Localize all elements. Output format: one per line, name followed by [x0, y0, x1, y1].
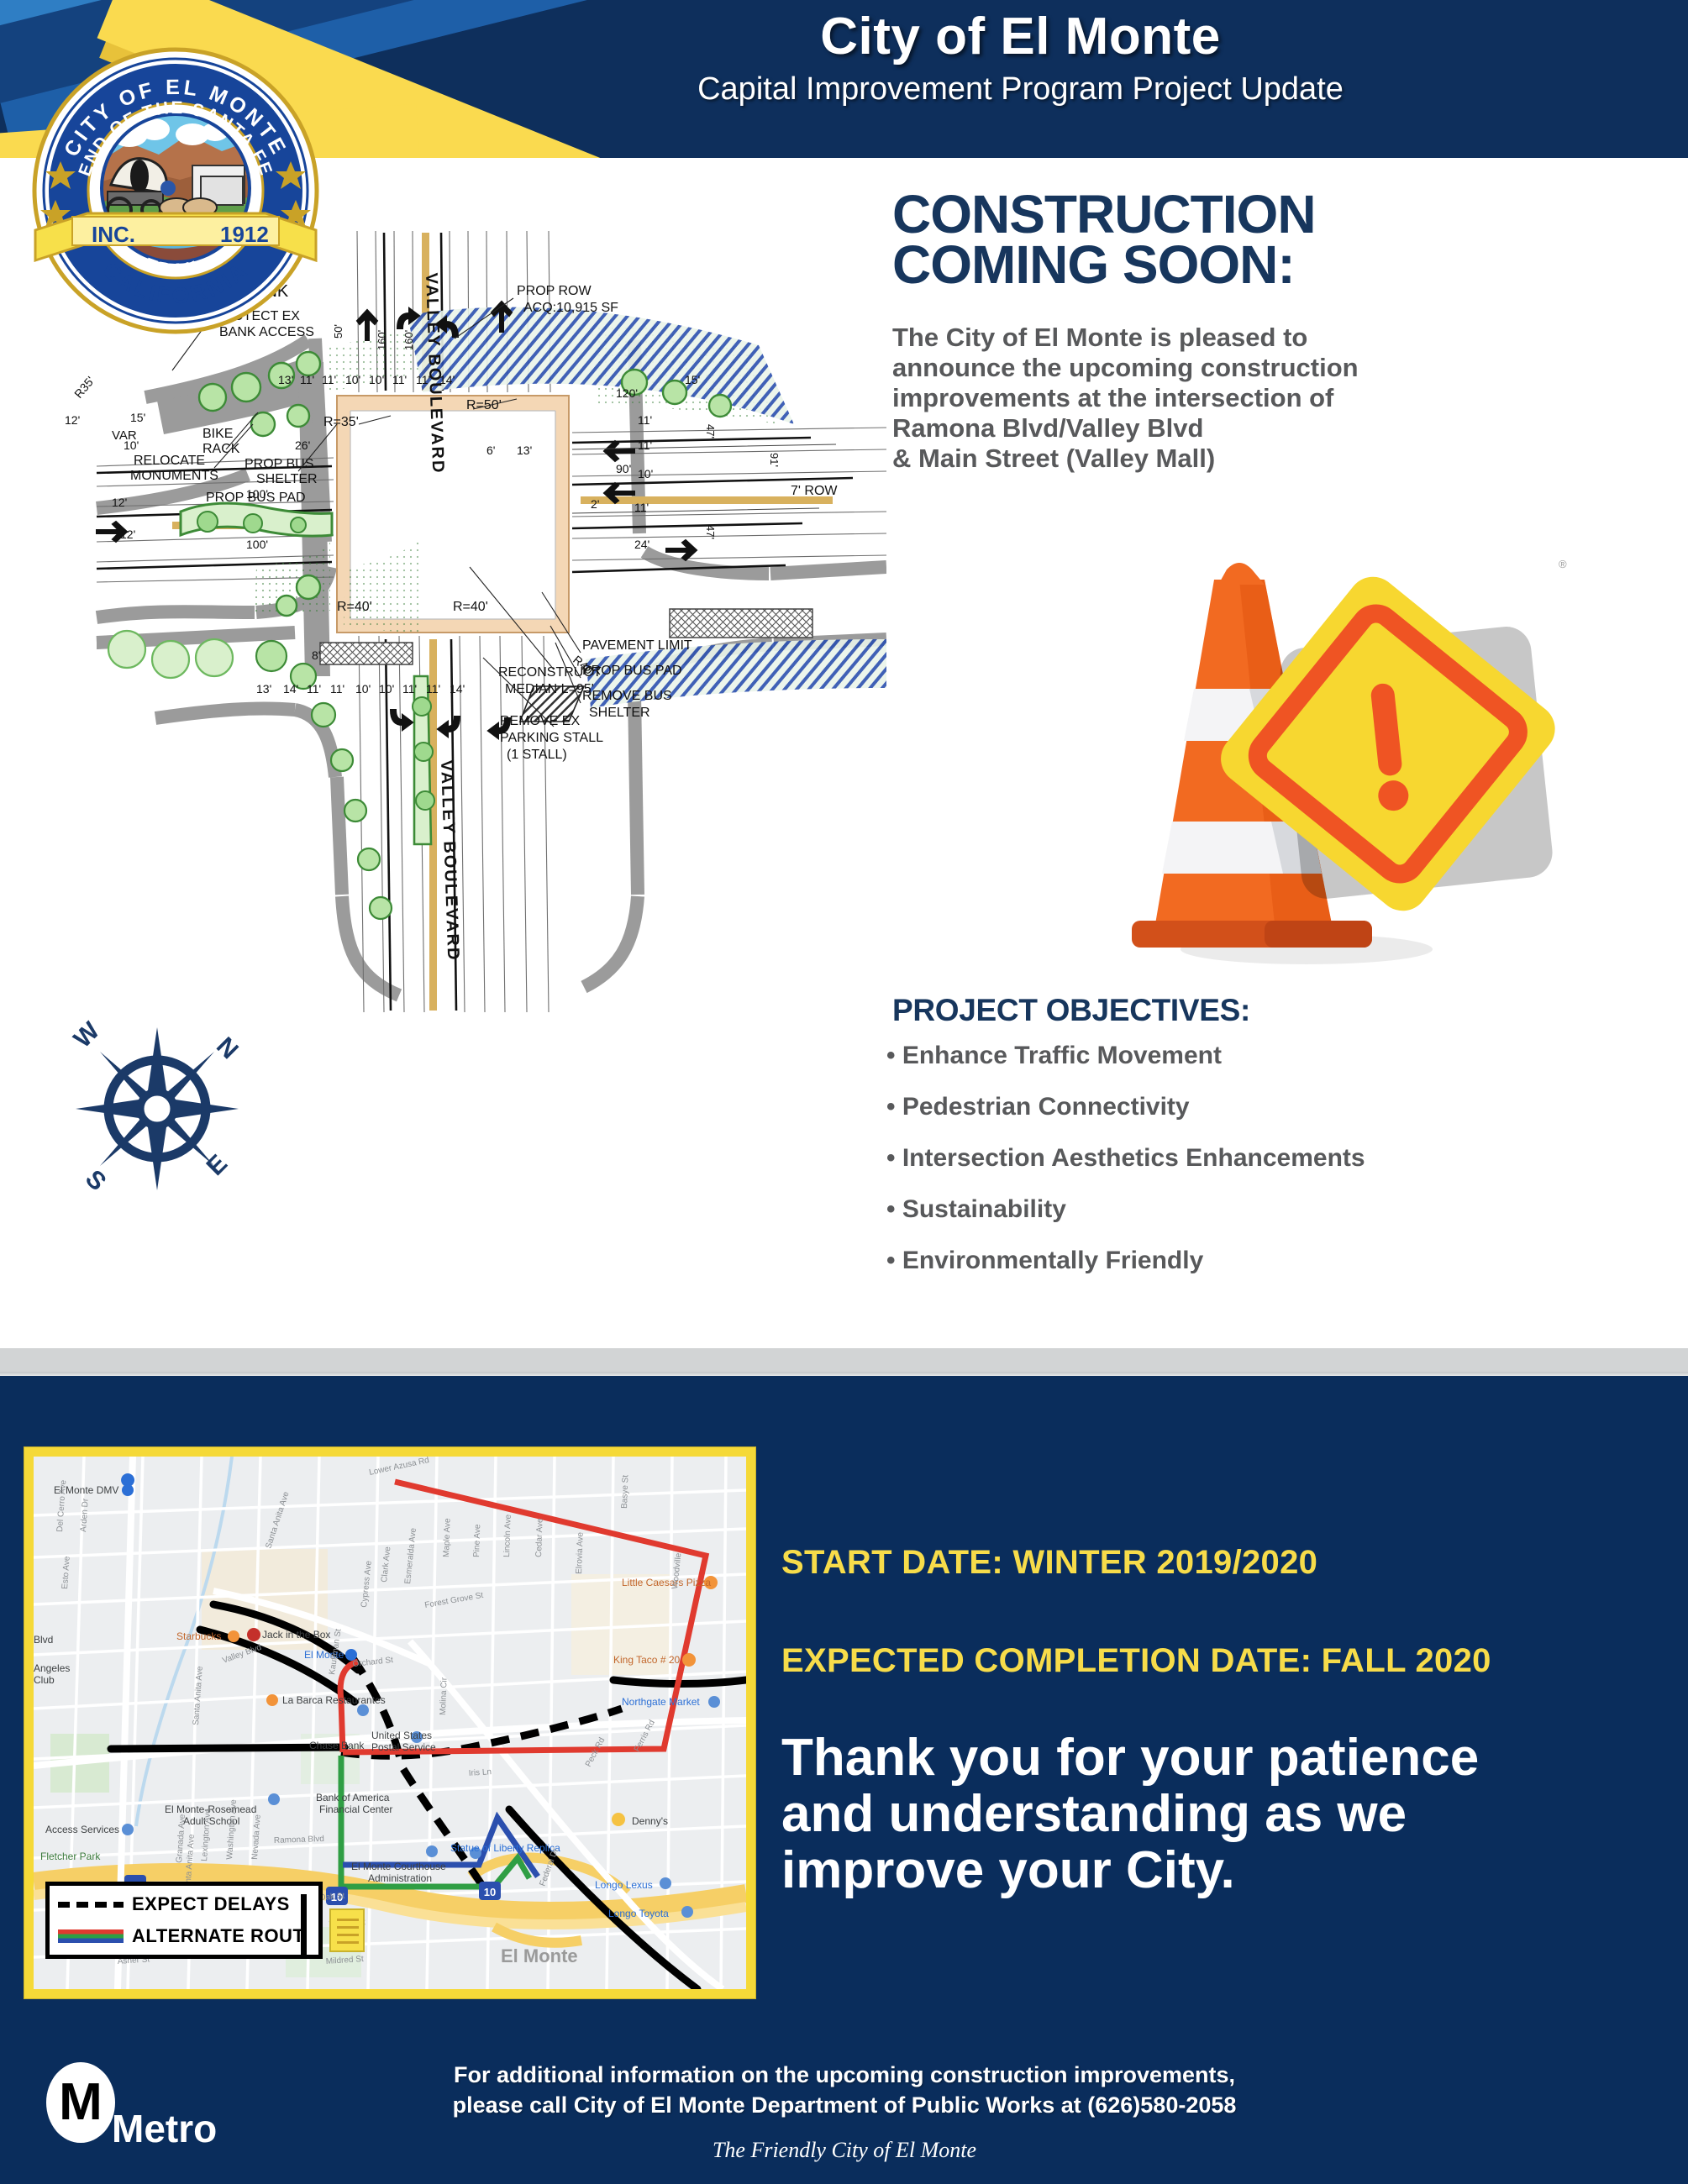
plan-dim-6r: 6'	[486, 444, 495, 457]
plan-dim-10t2: 10'	[369, 373, 384, 386]
plan-dim-11d: 11'	[307, 682, 321, 696]
plan-dim-160b: 160'	[402, 330, 415, 350]
plan-radius-r35: R=35'	[323, 415, 359, 429]
header-text-group: City of El Monte Capital Improvement Pro…	[353, 7, 1688, 108]
plan-label-median-l95: MEDIAN L=95'	[505, 682, 594, 696]
page-title: City of El Monte	[353, 7, 1688, 66]
map-poi-label: Postal Service	[371, 1741, 436, 1753]
plan-dim-14a: 14'	[283, 682, 298, 696]
map-city-label: El Monte	[501, 1945, 578, 1966]
lead-line-2: announce the upcoming construction	[892, 353, 1531, 383]
objective-item: Enhance Traffic Movement	[886, 1042, 1643, 1069]
map-poi-label: Blvd	[34, 1634, 53, 1646]
plan-dim-11c: 11'	[634, 501, 649, 514]
map-street-label: Maple Ave	[442, 1518, 453, 1557]
headline-block: CONSTRUCTION COMING SOON:	[892, 189, 1531, 290]
plan-dim-11a: 11'	[638, 413, 652, 427]
plan-dim-10: 10'	[124, 438, 139, 452]
plan-label-pavement-limit: PAVEMENT LIMIT	[582, 638, 692, 653]
legend-row-alternate: ALTERNATE ROUT	[58, 1920, 318, 1952]
map-street-label: Pine Ave	[472, 1524, 482, 1557]
legend-divider-bar	[301, 1894, 307, 1955]
map-poi-label: La Barca Restaurantes	[282, 1694, 386, 1706]
map-street-label: Iris Ln	[468, 1767, 492, 1778]
plan-dim-90: 90'	[616, 462, 631, 475]
plan-dim-11t3: 11'	[392, 373, 407, 386]
lead-line-3: improvements at the intersection of	[892, 383, 1531, 413]
map-street-label: Oak St	[318, 1892, 344, 1903]
detour-map[interactable]: 10 10 10	[34, 1457, 746, 1989]
plan-dim-100b: 100'	[246, 538, 268, 551]
plan-dim-2: 2'	[591, 497, 599, 511]
plan-dim-var-12: 12'	[65, 413, 80, 427]
headline-line-2: COMING SOON:	[892, 239, 1531, 290]
thanks-line-1: Thank you for your patience	[781, 1730, 1630, 1787]
objective-item: Sustainability	[886, 1195, 1643, 1223]
lead-line-1: The City of El Monte is pleased to	[892, 323, 1531, 353]
completion-date-text: EXPECTED COMPLETION DATE: FALL 2020	[781, 1642, 1664, 1680]
plan-dim-50: 50'	[332, 324, 344, 339]
map-poi-label: Bank of America	[316, 1792, 390, 1803]
map-poi-label: Little Caesars Pizza	[622, 1577, 711, 1588]
dashed-line-icon	[58, 1902, 124, 1908]
plan-label-prop-bus: PROP BUS	[245, 457, 313, 471]
plan-label-remove-ex: REMOVE EX	[500, 714, 580, 728]
plan-dim-14t: 14'	[439, 373, 455, 386]
plan-dim-91: 91'	[768, 453, 781, 467]
map-poi-label: Club	[34, 1674, 55, 1686]
registered-mark: ®	[1559, 558, 1567, 570]
objective-item: Environmentally Friendly	[886, 1247, 1643, 1274]
plan-dim-14b: 14'	[450, 682, 465, 696]
map-legend: EXPECT DELAYS ALTERNATE ROUT	[45, 1882, 323, 1959]
plan-dim-10t1: 10'	[345, 373, 360, 386]
plan-dim-left-12: 12'	[112, 496, 127, 509]
plan-label-prop-bus-pad-2: PROP BUS PAD	[582, 664, 682, 678]
plan-dim-10d: 10'	[379, 682, 394, 696]
plan-dim-10b: 10'	[638, 467, 653, 480]
map-poi-label: Northgate Market	[622, 1696, 700, 1708]
map-poi-label: Chase Bank	[309, 1740, 365, 1751]
thanks-line-3: improve your City.	[781, 1843, 1630, 1899]
page-subtitle: Capital Improvement Program Project Upda…	[353, 71, 1688, 108]
plan-dim-13t: 13'	[278, 373, 293, 386]
lead-line-5: & Main Street (Valley Mall)	[892, 444, 1531, 474]
plan-dim-26: 26'	[295, 438, 310, 452]
plan-radius-r40a: R=40'	[337, 600, 372, 614]
plan-dim-160a: 160'	[376, 330, 388, 350]
contact-line-2: please call City of El Monte Department …	[277, 2090, 1412, 2120]
map-poi-label: Angeles	[34, 1662, 70, 1674]
plan-label-parking-stall: PARKING STALL	[500, 731, 603, 745]
compass-label-s: S	[80, 1165, 111, 1196]
thank-you-message: Thank you for your patience and understa…	[781, 1730, 1630, 1899]
objectives-heading: PROJECT OBJECTIVES:	[892, 993, 1250, 1028]
plan-dim-11t2: 11'	[322, 373, 336, 386]
metro-logo-letter: M	[59, 2076, 103, 2129]
plan-dim-11t4: 11'	[416, 373, 430, 386]
objective-item: Pedestrian Connectivity	[886, 1093, 1643, 1121]
plan-dim-10c: 10'	[355, 682, 371, 696]
plan-label-remove-bus: REMOVE BUS	[582, 689, 672, 703]
legend-row-delays: EXPECT DELAYS	[58, 1888, 318, 1920]
plan-dim-11e: 11'	[330, 682, 344, 696]
plan-radius-r40b: R=40'	[453, 600, 488, 614]
legend-label-alternate-route: ALTERNATE ROUT	[132, 1925, 304, 1947]
map-poi-label: Denny's	[632, 1815, 668, 1827]
map-poi-label: Access Services	[45, 1824, 119, 1835]
plan-dim-24: 24'	[634, 538, 649, 551]
plan-label-acq: ACQ:10,915 SF	[523, 301, 618, 315]
lead-line-4: Ramona Blvd/Valley Blvd	[892, 413, 1531, 444]
map-poi-label: Longo Toyota	[608, 1908, 669, 1919]
contact-info: For additional information on the upcomi…	[277, 2060, 1412, 2121]
plan-label-7-row: 7' ROW	[791, 484, 838, 498]
contact-line-1: For additional information on the upcomi…	[277, 2060, 1412, 2090]
section-divider-gray	[0, 1348, 1688, 1372]
plan-label-shelter-2: SHELTER	[589, 706, 650, 720]
legend-label-expect-delays: EXPECT DELAYS	[132, 1893, 290, 1915]
map-poi-label: United States	[371, 1730, 432, 1741]
plan-label-rack: RACK	[202, 442, 240, 456]
metro-logo-circle: M	[46, 2062, 115, 2143]
map-street-label: Lincoln Ave	[502, 1514, 513, 1557]
plan-dim-15: 15'	[130, 411, 145, 424]
map-poi-label: Administration	[368, 1872, 432, 1884]
note-sticky-icon	[329, 1908, 365, 1952]
seal-ribbon-right: 1912	[220, 222, 269, 247]
plan-label-bike: BIKE	[202, 427, 233, 441]
flyer-page: City of El Monte Capital Improvement Pro…	[0, 0, 1688, 2184]
map-poi-label: King Taco # 20	[613, 1654, 680, 1666]
plan-label-monuments: MONUMENTS	[130, 469, 218, 483]
start-date-text: START DATE: WINTER 2019/2020	[781, 1544, 1664, 1582]
plan-dim-120: 120'	[616, 386, 638, 400]
construction-graphic: ®	[1054, 529, 1575, 974]
plan-label-relocate: RELOCATE	[134, 454, 205, 468]
map-poi-label: Fletcher Park	[40, 1851, 101, 1862]
map-poi-label: Starbucks	[176, 1630, 221, 1642]
plan-label-one-stall: (1 STALL)	[507, 748, 567, 762]
plan-label-prop-row: PROP ROW	[517, 284, 592, 298]
map-street-label: Elrovia Ave	[575, 1531, 586, 1574]
plan-dim-47a: 47'	[704, 424, 717, 438]
city-tagline: The Friendly City of El Monte	[277, 2138, 1412, 2163]
plan-dim-11f: 11'	[402, 682, 417, 696]
compass-rose: N E S W	[60, 1012, 254, 1205]
plan-label-shelter: SHELTER	[256, 472, 318, 486]
map-poi-label: Longo Lexus	[595, 1879, 653, 1891]
metro-logo-wordmark: Metro	[112, 2106, 217, 2151]
objective-item: Intersection Aesthetics Enhancements	[886, 1144, 1643, 1172]
compass-label-w: W	[69, 1016, 106, 1053]
map-street-label: Molina Cir	[439, 1677, 450, 1715]
map-poi-label: Financial Center	[319, 1803, 392, 1815]
objectives-list: Enhance Traffic Movement Pedestrian Conn…	[886, 1042, 1643, 1298]
map-street-label: Ramona Blvd	[274, 1835, 324, 1845]
svg-text:10: 10	[484, 1886, 496, 1898]
map-street-label: Basye St	[620, 1475, 630, 1509]
plan-dim-100a: 100'	[246, 487, 268, 501]
detour-map-frame: 10 10 10	[24, 1446, 756, 1999]
plan-dim-11g: 11'	[426, 682, 440, 696]
city-seal-logo: CITY OF EL MONTE END OF THE SANTA FE CAL…	[20, 35, 331, 346]
plan-dim-13: 13'	[256, 682, 271, 696]
plan-dim-11t1: 11'	[300, 373, 314, 386]
plan-dim-11b: 11'	[638, 438, 652, 452]
plan-radius-r50: R=50'	[466, 398, 502, 412]
plan-dim-15b: 15'	[685, 373, 700, 386]
plan-dim-47b: 47'	[704, 525, 717, 539]
plan-dim-13r: 13'	[517, 444, 532, 457]
compass-label-n: N	[211, 1032, 244, 1065]
plan-dim-8: 8'	[312, 648, 320, 662]
thanks-line-2: and understanding as we	[781, 1787, 1630, 1843]
map-street-label: Cedar Ave	[534, 1518, 545, 1557]
color-stripe-icon	[58, 1929, 124, 1943]
map-poi-label: Statue of Liberty Replica	[450, 1842, 560, 1854]
map-poi-label: Jack in the Box	[262, 1629, 330, 1641]
plan-dim-12: 12'	[120, 528, 135, 541]
lead-paragraph: The City of El Monte is pleased to annou…	[892, 323, 1531, 474]
compass-label-e: E	[202, 1149, 233, 1180]
seal-ribbon-left: INC.	[92, 222, 135, 247]
map-poi-label: El Monte Courthouse	[351, 1861, 446, 1872]
